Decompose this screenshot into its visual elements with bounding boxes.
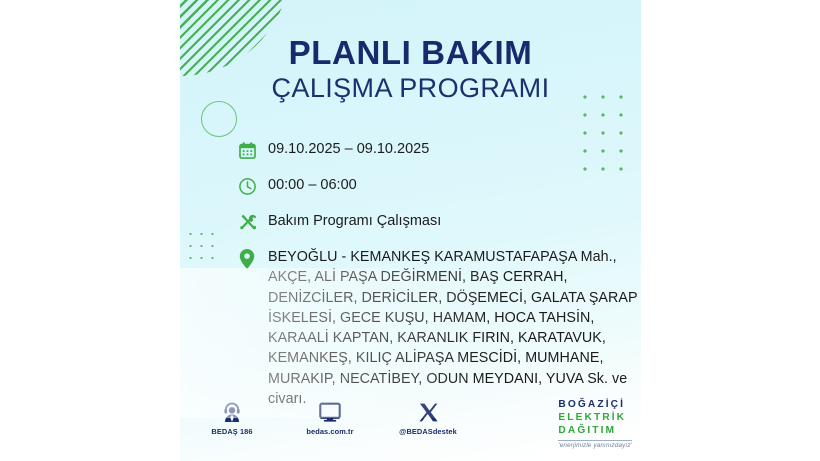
address-line: KARAALİ KAPTAN, KARANLIK FIRIN, KARATAVU… [268, 328, 638, 348]
contact-x-account[interactable]: @BEDASdestek [392, 397, 464, 436]
maintenance-work-type: Bakım Programı Çalışması [268, 211, 441, 231]
circle-outline-decoration [201, 101, 237, 137]
poster-headings: PLANLI BAKIM ÇALIŞMA PROGRAMI [180, 36, 641, 104]
logo-line-elektrik: ELEKTRİK [558, 412, 632, 425]
logo-line-dagitim: DAĞITIM [558, 425, 632, 438]
address-line: DENİZCİLER, DERİCİLER, DÖŞEMECİ, GALATA … [268, 288, 638, 308]
x-twitter-icon [392, 397, 464, 423]
detail-row-date: 09.10.2025 – 09.10.2025 [238, 139, 630, 161]
contact-website[interactable]: bedas.com.tr [294, 397, 366, 436]
logo-divider [558, 440, 632, 441]
monitor-icon [294, 397, 366, 423]
contact-website-label: bedas.com.tr [294, 427, 366, 436]
maintenance-date-range: 09.10.2025 – 09.10.2025 [268, 139, 429, 159]
maintenance-details: 09.10.2025 – 09.10.2025 00:00 – 06:00 [238, 139, 630, 409]
detail-row-address: BEYOĞLU - KEMANKEŞ KARAMUSTAFAPAŞA Mah.,… [238, 247, 630, 409]
maintenance-address: BEYOĞLU - KEMANKEŞ KARAMUSTAFAPAŞA Mah.,… [268, 247, 638, 409]
planned-maintenance-poster: PLANLI BAKIM ÇALIŞMA PROGRAMI [180, 0, 641, 461]
calendar-icon [238, 139, 268, 161]
call-center-agent-icon [196, 397, 268, 423]
address-line: İSKELESİ, GECE KUŞU, HAMAM, HOCA TAHSİN, [268, 308, 638, 328]
clock-icon [238, 175, 268, 197]
address-line: AKÇE, ALİ PAŞA DEĞİRMENİ, BAŞ CERRAH, [268, 267, 638, 287]
logo-line-bogazici: BOĞAZİÇİ [558, 399, 632, 412]
screenshot-root: PLANLI BAKIM ÇALIŞMA PROGRAMI [0, 0, 820, 461]
poster-footer: BEDAŞ 186 bedas.com.tr [180, 397, 641, 453]
address-line: KEMANKEŞ, KILIÇ ALİPAŞA MESCİDİ, MUMHANE… [268, 348, 638, 368]
address-line: BEYOĞLU - KEMANKEŞ KARAMUSTAFAPAŞA Mah., [268, 247, 638, 267]
page-title: PLANLI BAKIM [180, 36, 641, 71]
page-subtitle: ÇALIŞMA PROGRAMI [180, 74, 641, 104]
detail-row-work-type: Bakım Programı Çalışması [238, 211, 630, 233]
contact-x-label: @BEDASdestek [392, 427, 464, 436]
detail-row-time: 00:00 – 06:00 [238, 175, 630, 197]
location-pin-icon [238, 247, 268, 270]
bedas-logo: BOĞAZİÇİ ELEKTRİK DAĞITIM 'enerjimizle y… [558, 399, 632, 449]
tools-icon [238, 211, 268, 233]
maintenance-time-range: 00:00 – 06:00 [268, 175, 357, 195]
contact-channels: BEDAŞ 186 bedas.com.tr [196, 397, 464, 436]
dot-grid-left-decoration [184, 227, 218, 265]
contact-phone[interactable]: BEDAŞ 186 [196, 397, 268, 436]
contact-phone-label: BEDAŞ 186 [196, 427, 268, 436]
logo-tagline: 'enerjimizle yanınızdayız' [558, 442, 632, 449]
address-line: MURAKIP, NECATİBEY, ODUN MEYDANI, YUVA S… [268, 369, 638, 389]
